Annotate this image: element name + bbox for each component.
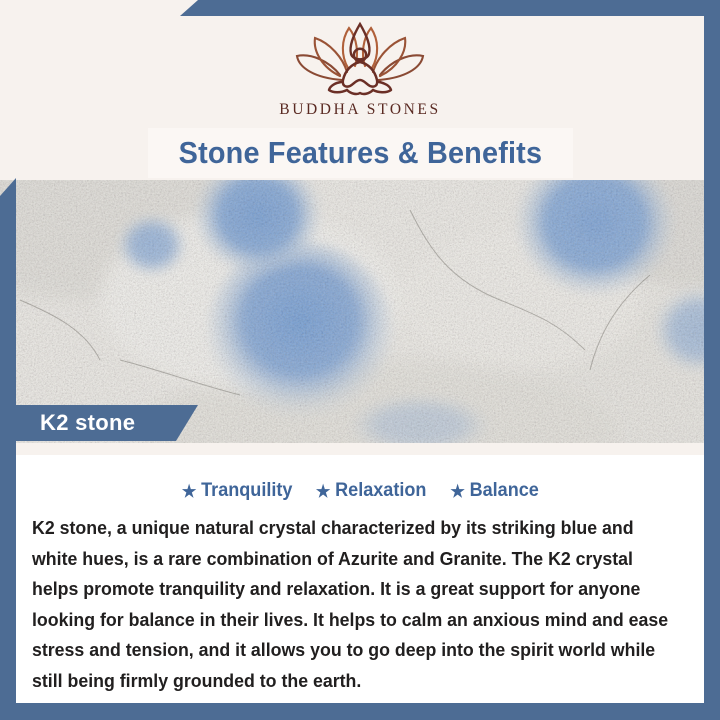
stone-name-label: K2 stone [40,410,135,436]
frame-border-top [180,0,720,16]
brand-name: BUDDHA STONES [279,101,440,119]
benefit-tag-balance: ★ Balance [450,480,538,502]
benefit-tag-relaxation: ★ Relaxation [316,480,427,502]
star-icon: ★ [450,483,464,500]
description-paragraph: K2 stone, a unique natural crystal chara… [32,513,669,696]
star-icon: ★ [182,483,196,500]
benefit-tag-label: Balance [469,480,538,502]
frame-border-right [704,0,720,720]
panel-top-strip [16,443,704,455]
product-info-card: BUDDHA STONES Stone Features & Benefits [0,0,720,720]
star-icon: ★ [316,483,330,500]
benefit-tag-tranquility: ★ Tranquility [182,480,293,502]
benefit-tags: ★ Tranquility ★ Relaxation ★ Balance [16,480,704,502]
lotus-meditation-icon [285,20,435,98]
title-band: Stone Features & Benefits [148,128,573,178]
benefit-tag-label: Relaxation [336,480,427,502]
stone-name-banner: K2 stone [16,405,198,441]
benefit-tag-label: Tranquility [201,480,292,502]
brand-logo: BUDDHA STONES [0,20,720,119]
page-title: Stone Features & Benefits [179,135,543,171]
content-panel: ★ Tranquility ★ Relaxation ★ Balance K2 … [16,443,704,703]
frame-border-bottom [0,703,720,720]
frame-border-left [0,178,16,720]
